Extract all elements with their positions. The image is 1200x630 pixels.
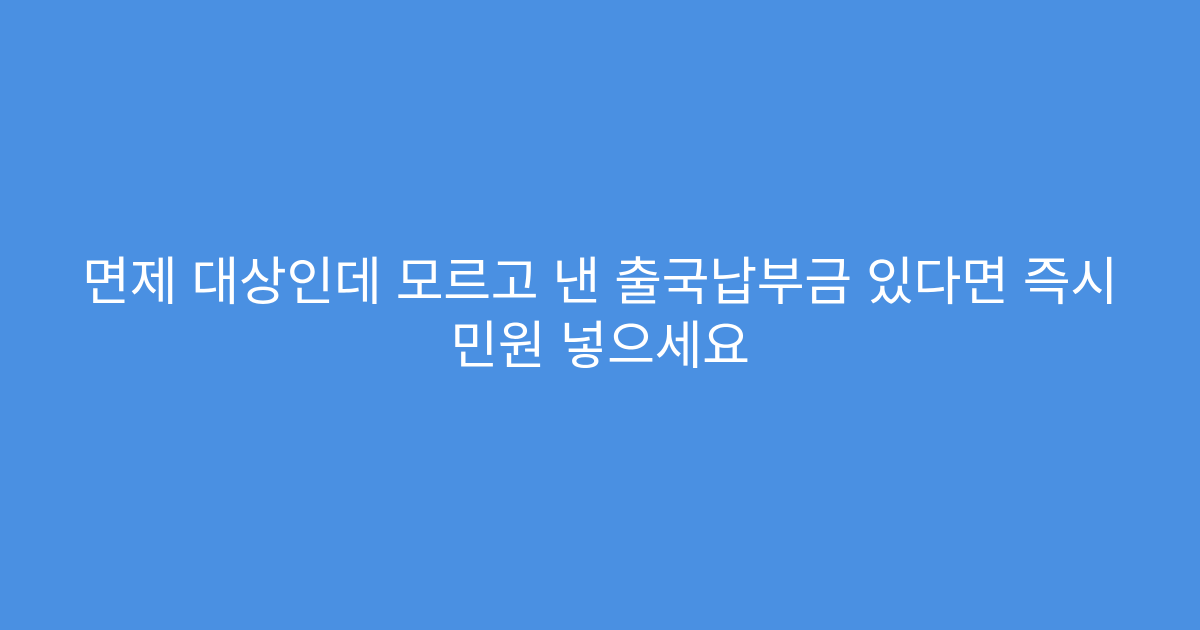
headline-container: 면제 대상인데 모르고 낸 출국납부금 있다면 즉시 민원 넣으세요 xyxy=(70,251,1130,379)
thumbnail-card: 면제 대상인데 모르고 낸 출국납부금 있다면 즉시 민원 넣으세요 xyxy=(0,0,1200,630)
page-title: 면제 대상인데 모르고 낸 출국납부금 있다면 즉시 민원 넣으세요 xyxy=(80,251,1120,379)
